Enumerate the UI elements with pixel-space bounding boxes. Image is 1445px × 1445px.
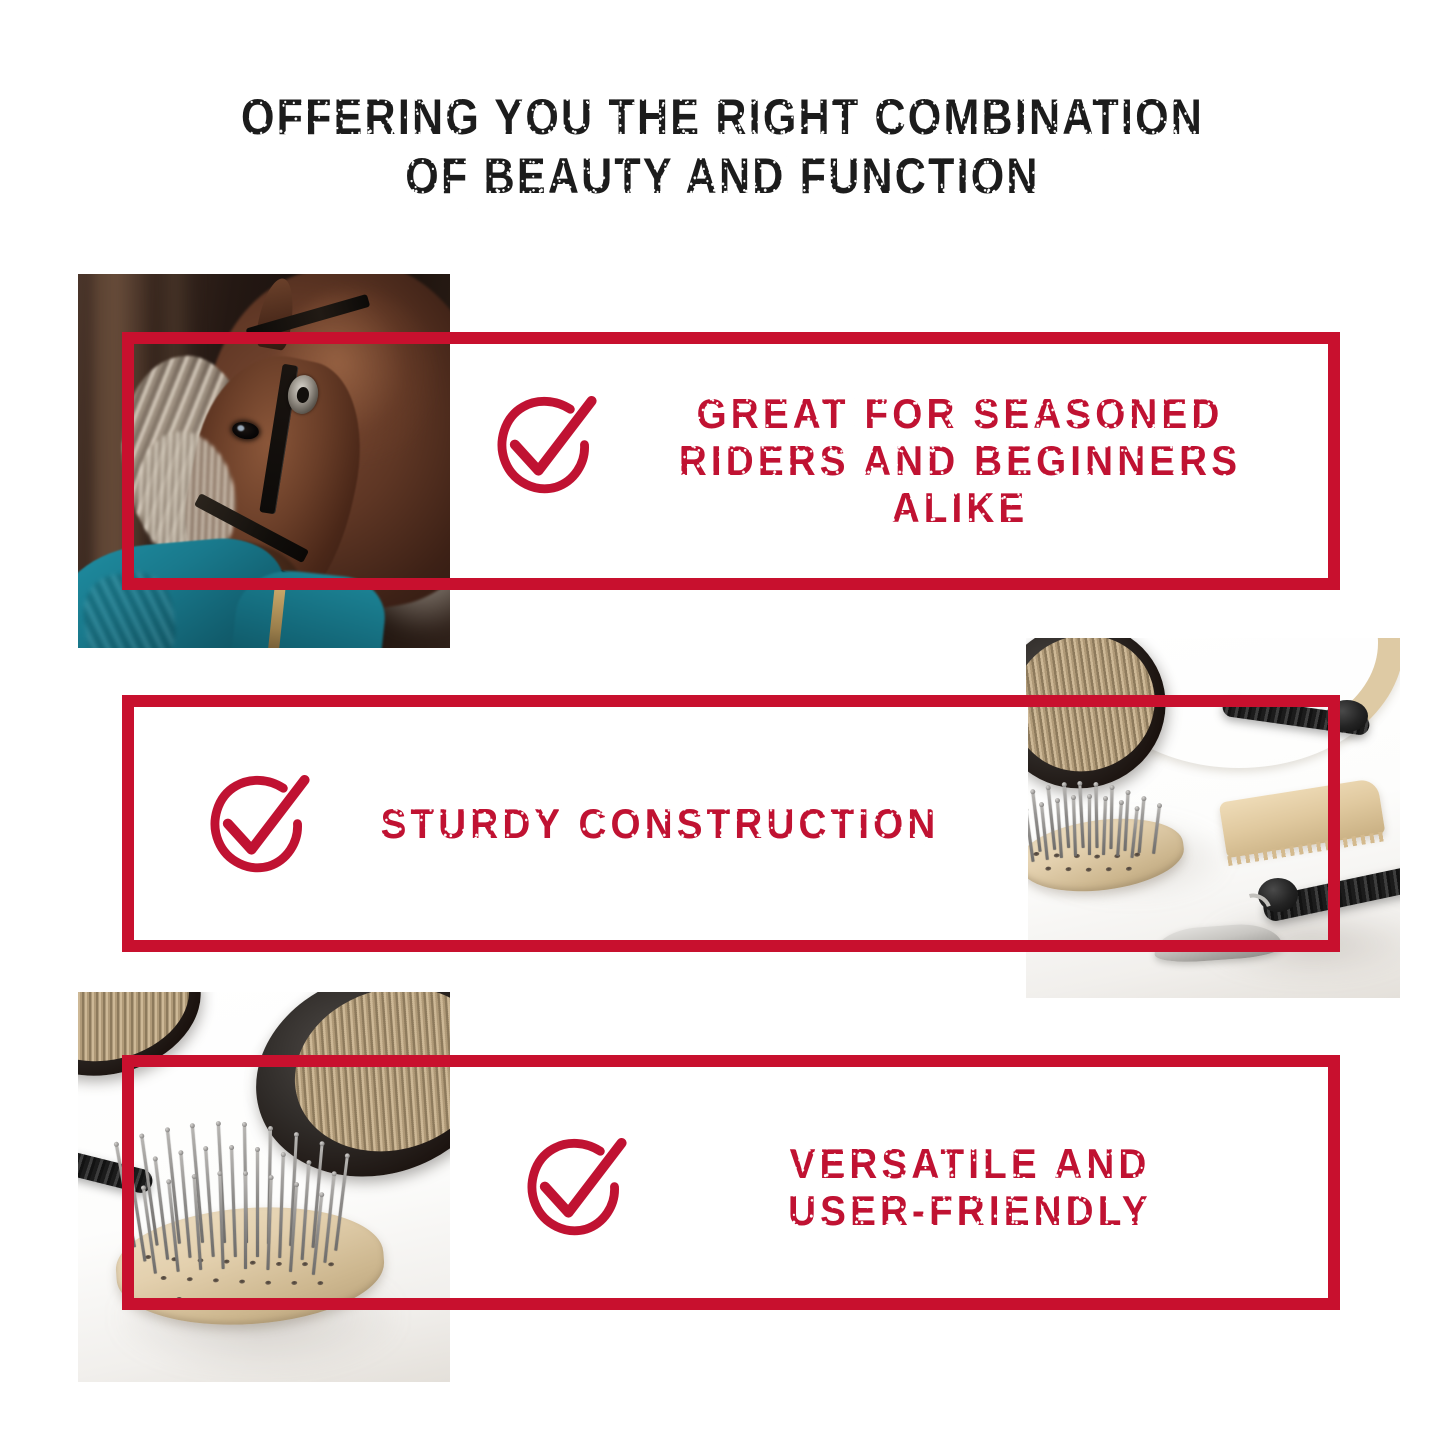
feature-text-1: GREAT FOR SEASONED RIDERS AND BEGINNERS … [666, 390, 1255, 531]
feature-text-3: VERSATILE AND USER-FRIENDLY [722, 1140, 1219, 1234]
check-circle-icon [483, 388, 601, 506]
page-title: OFFERING YOU THE RIGHT COMBINATION OF BE… [101, 88, 1344, 206]
feature-text-2: STURDY CONSTRUCTION [356, 800, 963, 847]
check-circle-icon [196, 767, 314, 885]
headline-line-1: OFFERING YOU THE RIGHT COMBINATION [101, 88, 1344, 147]
headline-line-2: OF BEAUTY AND FUNCTION [101, 147, 1344, 206]
check-circle-icon [513, 1130, 631, 1248]
infographic-canvas: OFFERING YOU THE RIGHT COMBINATION OF BE… [0, 0, 1445, 1445]
